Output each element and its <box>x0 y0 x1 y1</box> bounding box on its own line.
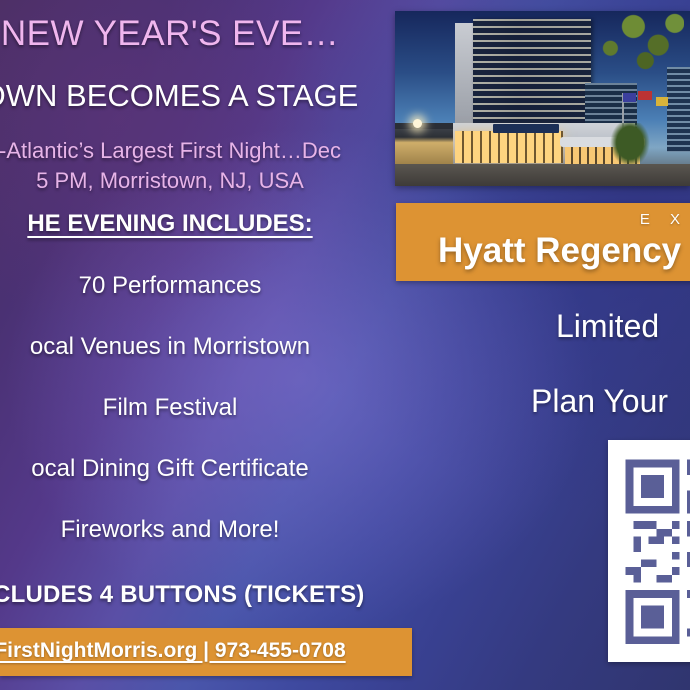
flag-icon <box>656 97 668 106</box>
banner-kicker: E X <box>640 211 688 228</box>
list-item: Film Festival <box>0 394 380 422</box>
headline-primary: NEW YEAR'S EVE… <box>0 14 380 54</box>
contact-bar[interactable]: FirstNightMorris.org | 973-455-0708 <box>0 628 412 676</box>
subhead-line-1: -Atlantic’s Largest First Night…Dec <box>0 138 380 164</box>
background-building <box>667 67 690 152</box>
list-item: ocal Venues in Morristown <box>0 333 380 361</box>
qr-code[interactable] <box>608 440 690 662</box>
tree-foliage-icon <box>592 11 684 73</box>
tickets-note: NCLUDES 4 BUTTONS (TICKETS) <box>0 581 380 609</box>
flag-icon <box>638 91 652 100</box>
headline-secondary: OWN BECOMES A STAGE <box>0 78 380 114</box>
left-text-column: NEW YEAR'S EVE… OWN BECOMES A STAGE -Atl… <box>0 0 392 690</box>
lobby-windows <box>455 131 563 163</box>
street-ground <box>395 164 690 186</box>
qr-code-image <box>618 452 690 652</box>
contact-link[interactable]: FirstNightMorris.org | 973-455-0708 <box>0 639 380 663</box>
subhead-line-2: 5 PM, Morristown, NJ, USA <box>0 168 380 194</box>
hyatt-banner: E X Hyatt Regency <box>396 203 690 281</box>
tree-icon <box>610 123 650 167</box>
street-lamp-icon <box>413 119 422 128</box>
flag-icon <box>623 93 636 102</box>
banner-hotel-name: Hyatt Regency <box>438 231 681 271</box>
right-text-line-2: Plan Your <box>531 383 668 420</box>
list-item: Fireworks and More! <box>0 516 380 544</box>
evening-includes-heading: HE EVENING INCLUDES: <box>0 210 380 238</box>
list-item: ocal Dining Gift Certificate <box>0 455 380 483</box>
hotel-signage <box>493 124 559 133</box>
promo-slide: NEW YEAR'S EVE… OWN BECOMES A STAGE -Atl… <box>0 0 690 690</box>
right-text-line-1: Limited <box>556 308 659 345</box>
hotel-photo <box>395 11 690 186</box>
list-item: 70 Performances <box>0 272 380 300</box>
